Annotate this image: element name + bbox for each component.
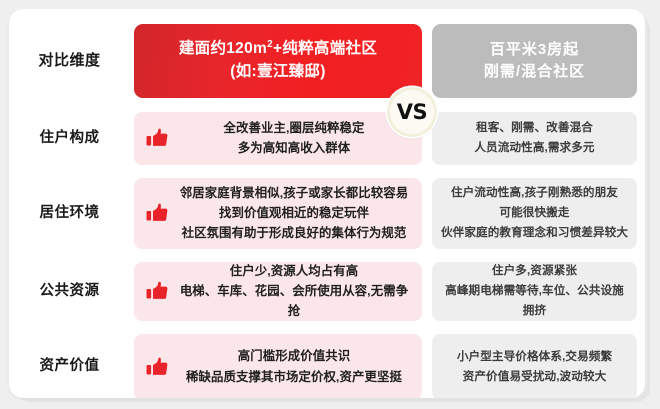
pro-header-line-1-pre: 建面约120m [179, 41, 267, 58]
pro-text-line: 高门槛形成价值共识 [174, 346, 414, 366]
dimension-label: 公共资源 [40, 282, 100, 301]
pro-cell: 邻居家庭背景相似,孩子或家长都比较容易 找到价值观相近的稳定玩伴 社区氛围有助于… [130, 171, 428, 255]
dimension-label: 资产价值 [40, 357, 100, 376]
con-text-line: 住户多,资源紧张 [440, 261, 629, 281]
vs-label: VS [397, 100, 427, 124]
pro-text-line: 稀缺品质支撑其市场定价权,资产更坚挺 [174, 367, 414, 387]
pro-text: 邻居家庭背景相似,孩子或家长都比较容易 找到价值观相近的稳定玩伴 社区氛围有助于… [174, 183, 414, 243]
pro-text-line: 住户少,资源人均占有高 [174, 261, 414, 281]
con-text: 租客、刚需、改善混合 人员流动性高,需求多元 [474, 118, 594, 158]
table-row: 公共资源 [9, 255, 130, 327]
con-text-line: 住户流动性高,孩子刚熟悉的朋友 [441, 183, 628, 203]
con-text-line: 可能很快搬走 [441, 203, 628, 223]
pro-text: 住户少,资源人均占有高 电梯、车库、花园、会所使用从容,无需争抢 [174, 261, 414, 321]
con-text-line: 小户型主导价格体系,交易频繁 [457, 347, 612, 367]
table-header-dimension: 对比维度 [9, 17, 130, 105]
table-header-con: 百平米3房起 刚需/混合社区 [428, 17, 645, 105]
con-cell: 住户流动性高,孩子刚熟悉的朋友 可能很快搬走 伙伴家庭的教育理念和习惯差异较大 [428, 171, 645, 255]
thumbs-up-icon [144, 277, 172, 305]
con-text: 小户型主导价格体系,交易频繁 资产价值易受扰动,波动较大 [457, 347, 612, 387]
pro-cell: 住户少,资源人均占有高 电梯、车库、花园、会所使用从容,无需争抢 [130, 255, 428, 327]
thumbs-up-icon [144, 124, 172, 152]
con-column-header-pill: 百平米3房起 刚需/混合社区 [432, 24, 637, 98]
pro-text-line: 邻居家庭背景相似,孩子或家长都比较容易 [174, 183, 414, 203]
con-box: 租客、刚需、改善混合 人员流动性高,需求多元 [432, 112, 637, 165]
table-row: 资产价值 [9, 327, 130, 398]
table-row: 居住环境 [9, 171, 130, 255]
con-cell: 租客、刚需、改善混合 人员流动性高,需求多元 [428, 105, 645, 171]
vs-badge: VS [387, 87, 437, 137]
comparison-table: 对比维度 建面约120m2+纯粹高端社区 (如:壹江臻邸) 百平米3房起 刚需/… [9, 9, 645, 398]
con-text-line: 租客、刚需、改善混合 [474, 118, 594, 138]
thumbs-up-icon [144, 199, 172, 227]
con-header-line-2: 刚需/混合社区 [484, 61, 585, 83]
con-box: 小户型主导价格体系,交易频繁 资产价值易受扰动,波动较大 [432, 334, 637, 399]
con-text: 住户流动性高,孩子刚熟悉的朋友 可能很快搬走 伙伴家庭的教育理念和习惯差异较大 [441, 183, 628, 243]
con-text: 住户多,资源紧张 高峰期电梯需等待,车位、公共设施拥挤 [440, 261, 629, 321]
comparison-card: 对比维度 建面约120m2+纯粹高端社区 (如:壹江臻邸) 百平米3房起 刚需/… [9, 9, 645, 398]
con-header-line-1: 百平米3房起 [490, 39, 579, 61]
pro-header-line-2: (如:壹江臻邸) [230, 61, 325, 83]
pro-cell: 高门槛形成价值共识 稀缺品质支撑其市场定价权,资产更坚挺 [130, 327, 428, 398]
pro-cell: 全改善业主,圈层纯粹稳定 多为高知高收入群体 [130, 105, 428, 171]
thumbs-up-icon [144, 353, 172, 381]
dimension-label: 居住环境 [40, 204, 100, 223]
con-text-line: 人员流动性高,需求多元 [474, 138, 594, 158]
con-cell: 小户型主导价格体系,交易频繁 资产价值易受扰动,波动较大 [428, 327, 645, 398]
pro-text-line: 找到价值观相近的稳定玩伴 [174, 203, 414, 223]
pro-box: 住户少,资源人均占有高 电梯、车库、花园、会所使用从容,无需争抢 [134, 262, 422, 321]
table-header-pro: 建面约120m2+纯粹高端社区 (如:壹江臻邸) [130, 17, 428, 105]
con-text-line: 伙伴家庭的教育理念和习惯差异较大 [441, 223, 628, 243]
dimension-label: 住户构成 [40, 129, 100, 148]
pro-text-line: 电梯、车库、花园、会所使用从容,无需争抢 [174, 281, 414, 321]
pro-text-line: 多为高知高收入群体 [174, 138, 414, 158]
con-text-line: 资产价值易受扰动,波动较大 [457, 367, 612, 387]
pro-column-header-pill: 建面约120m2+纯粹高端社区 (如:壹江臻邸) [134, 24, 422, 98]
pro-box: 邻居家庭背景相似,孩子或家长都比较容易 找到价值观相近的稳定玩伴 社区氛围有助于… [134, 178, 422, 249]
con-box: 住户流动性高,孩子刚熟悉的朋友 可能很快搬走 伙伴家庭的教育理念和习惯差异较大 [432, 178, 637, 249]
pro-header-line-1: 建面约120m2+纯粹高端社区 [179, 38, 377, 61]
pro-text-line: 全改善业主,圈层纯粹稳定 [174, 118, 414, 138]
pro-text: 高门槛形成价值共识 稀缺品质支撑其市场定价权,资产更坚挺 [174, 346, 414, 386]
pro-text: 全改善业主,圈层纯粹稳定 多为高知高收入群体 [174, 118, 414, 158]
con-cell: 住户多,资源紧张 高峰期电梯需等待,车位、公共设施拥挤 [428, 255, 645, 327]
pro-header-line-1-post: +纯粹高端社区 [273, 41, 377, 58]
table-row: 住户构成 [9, 105, 130, 171]
pro-box: 高门槛形成价值共识 稀缺品质支撑其市场定价权,资产更坚挺 [134, 334, 422, 399]
pro-text-line: 社区氛围有助于形成良好的集体行为规范 [174, 223, 414, 243]
con-text-line: 高峰期电梯需等待,车位、公共设施拥挤 [440, 281, 629, 321]
pro-box: 全改善业主,圈层纯粹稳定 多为高知高收入群体 [134, 112, 422, 165]
dimension-header-label: 对比维度 [38, 51, 100, 71]
con-box: 住户多,资源紧张 高峰期电梯需等待,车位、公共设施拥挤 [432, 262, 637, 321]
